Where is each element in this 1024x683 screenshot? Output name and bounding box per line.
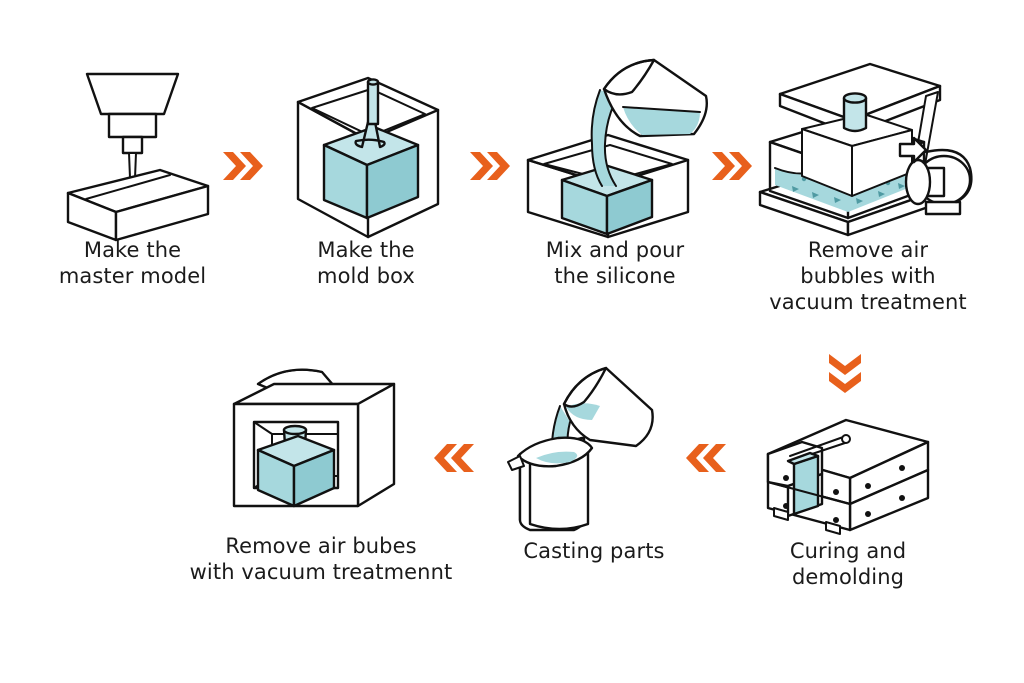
step-2-caption: Make the mold box (268, 237, 464, 289)
step-3-caption: Mix and pour the silicone (512, 237, 718, 289)
step-5-curing-and-demolding: Curing and demolding (750, 412, 946, 590)
arrow-step4-to-step5 (824, 352, 866, 398)
mold-frame-vacuum-casting-icon (186, 358, 456, 533)
step-5-caption: Curing and demolding (750, 538, 946, 590)
step-6-casting-parts: Casting parts (496, 358, 692, 564)
pour-silicone-into-box-icon (512, 52, 718, 237)
process-diagram: Make the master model (0, 0, 1024, 683)
step-4-caption: Remove air bubbles with vacuum treatment (748, 237, 988, 315)
arrow-step1-to-step2 (221, 148, 265, 184)
step-7-caption: Remove air bubes with vacuum treatmennt (186, 533, 456, 585)
step-7-vacuum-casting-mold-frame: Remove air bubes with vacuum treatmennt (186, 358, 456, 585)
pouring-cup-into-beaker-icon (496, 358, 692, 538)
step-4-vacuum-degassing: Remove air bubbles with vacuum treatment (748, 52, 988, 315)
cnc-milling-master-model-icon (30, 52, 235, 237)
arrow-step2-to-step3 (468, 148, 512, 184)
vacuum-chamber-with-pump-icon (748, 52, 988, 237)
step-1-make-master-model: Make the master model (30, 52, 235, 289)
cured-split-mold-icon (750, 412, 946, 538)
step-3-mix-and-pour-silicone: Mix and pour the silicone (512, 52, 718, 289)
step-1-caption: Make the master model (30, 237, 235, 289)
step-2-make-mold-box: Make the mold box (268, 52, 464, 289)
step-6-caption: Casting parts (496, 538, 692, 564)
mold-box-with-master-icon (268, 52, 464, 237)
